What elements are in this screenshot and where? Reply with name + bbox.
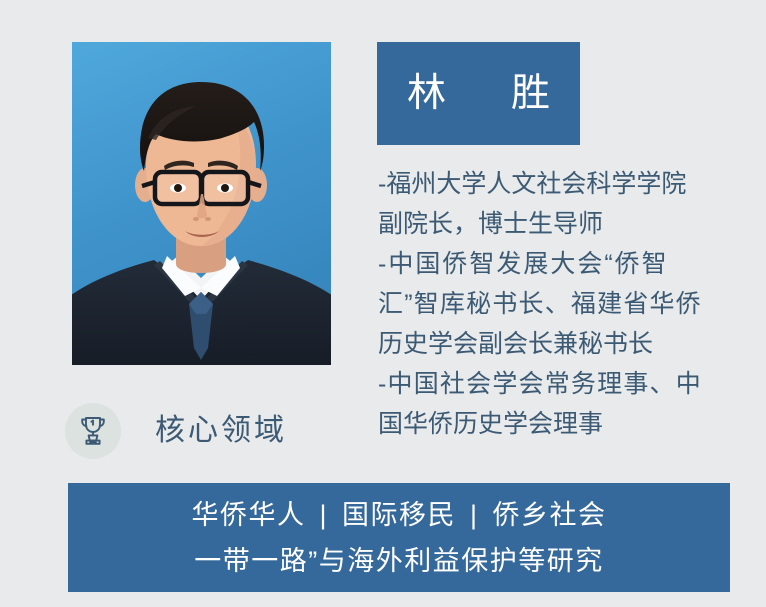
research-area-tag: 侨乡社会: [493, 500, 607, 530]
core-field-badge: [65, 403, 121, 459]
biography-block: -福州大学人文社会科学学院 副院长，博士生导师 -中国侨智发展大会“侨智 汇”智…: [378, 164, 753, 444]
separator: |: [305, 500, 342, 530]
research-area-tag: 华侨华人: [191, 500, 305, 530]
banner-line-1: 华侨华人|国际移民|侨乡社会: [191, 492, 606, 538]
bio-line: 副院长，博士生导师: [378, 204, 753, 244]
trophy-icon: [76, 414, 110, 448]
name-plate: 林 胜: [377, 42, 580, 145]
separator: |: [456, 500, 493, 530]
bio-line: 汇”智库秘书长、福建省华侨: [378, 284, 753, 324]
portrait-photo: [72, 42, 331, 365]
research-areas-banner: 华侨华人|国际移民|侨乡社会 一带一路”与海外利益保护等研究: [68, 483, 730, 592]
core-field-row: 核心领域: [65, 403, 287, 459]
banner-line-2: 一带一路”与海外利益保护等研究: [194, 538, 604, 584]
research-area-tag: 国际移民: [342, 500, 456, 530]
profile-card: 林 胜 -福州大学人文社会科学学院 副院长，博士生导师 -中国侨智发展大会“侨智…: [0, 0, 766, 607]
core-field-label: 核心领域: [155, 416, 287, 446]
bio-line: -中国社会学会常务理事、中: [378, 364, 753, 404]
bio-line: 国华侨历史学会理事: [378, 404, 753, 444]
person-name: 林 胜: [394, 74, 563, 113]
bio-line: -福州大学人文社会科学学院: [378, 164, 753, 204]
bio-line: -中国侨智发展大会“侨智: [378, 244, 753, 284]
bio-line: 历史学会副会长兼秘书长: [378, 324, 753, 364]
portrait-illustration: [72, 42, 331, 365]
